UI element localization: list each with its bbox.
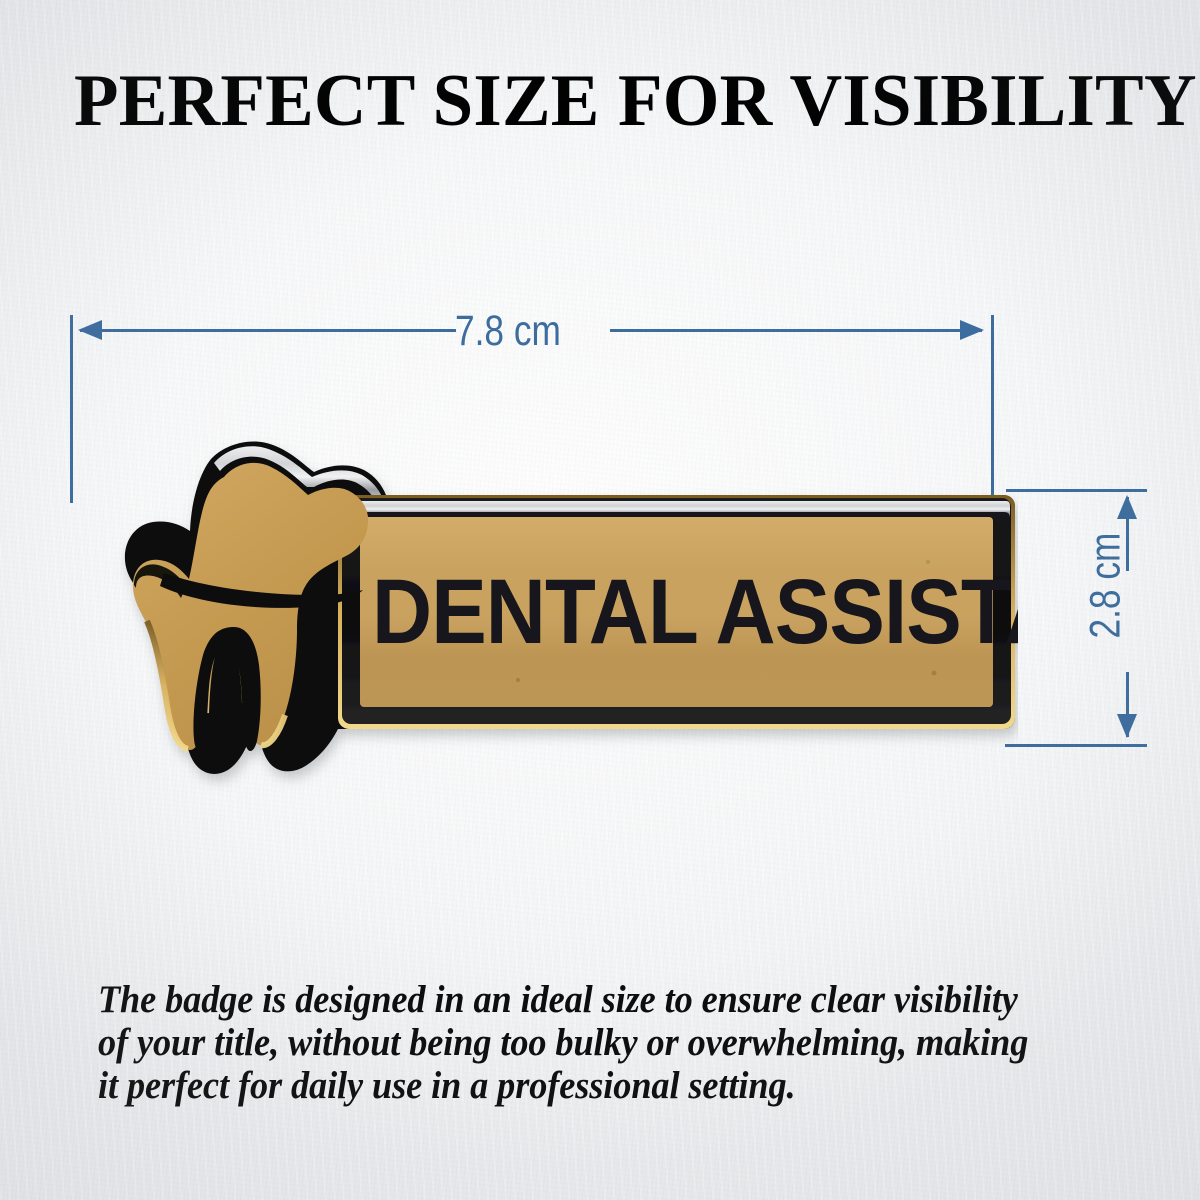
surface-speck (516, 678, 520, 682)
description-caption: The badge is designed in an ideal size t… (98, 978, 1056, 1107)
height-arrow-up-icon (1117, 495, 1137, 519)
width-dimension-label: 7.8 cm (455, 310, 561, 353)
height-dimension-label: 2.8 cm (1085, 533, 1128, 639)
width-arrow-right-icon (960, 320, 984, 340)
height-extension-line-bottom (1005, 744, 1147, 747)
height-arrow-down-icon (1117, 714, 1137, 738)
surface-speck (926, 560, 930, 564)
badge-title-text: DENTAL ASSISTANT (372, 560, 1018, 663)
badge-product-image: DENTAL ASSISTANT (48, 425, 1018, 800)
width-dimension-line-right (610, 329, 982, 332)
surface-speck (932, 671, 937, 676)
width-arrow-left-icon (78, 320, 102, 340)
badge-body: DENTAL ASSISTANT (125, 441, 1018, 774)
page-title: PERFECT SIZE FOR VISIBILITY (74, 60, 1118, 142)
width-dimension-line-left (80, 329, 456, 332)
infographic-canvas: PERFECT SIZE FOR VISIBILITY 7.8 cm 2.8 c… (0, 0, 1200, 1200)
height-extension-line-top (1006, 489, 1147, 492)
